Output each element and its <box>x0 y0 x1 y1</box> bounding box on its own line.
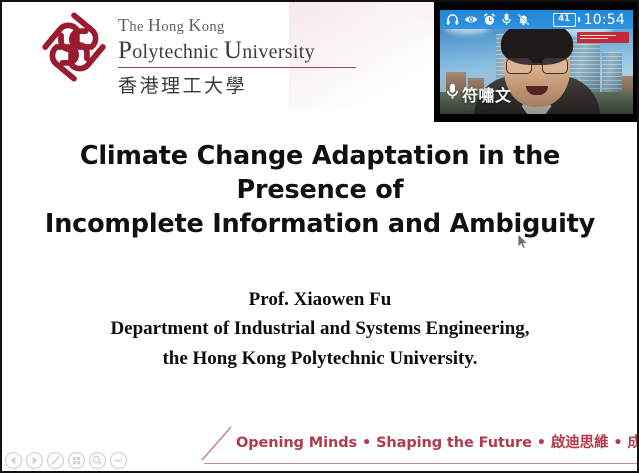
presentation-control-bar[interactable] <box>4 451 128 470</box>
previous-slide-button[interactable] <box>4 451 23 470</box>
alarm-clock-icon <box>483 13 496 26</box>
microphone-icon <box>501 13 512 26</box>
all-slides-button[interactable] <box>67 451 86 470</box>
participant-video-overlay[interactable]: 41 10:54 符嘯文 <box>434 0 639 122</box>
presenter-department: Department of Industrial and Systems Eng… <box>40 314 600 343</box>
footer-rule <box>204 463 639 465</box>
battery-percent: 41 <box>558 15 570 24</box>
slide-footer: Opening Minds • Shaping the Future • 啟迪思… <box>196 421 639 467</box>
headphones-icon <box>446 13 459 26</box>
brand-line-1: The Hong Kong <box>118 16 356 35</box>
footer-slash-icon <box>200 425 234 463</box>
brand-line-2: Polytechnic University <box>118 36 356 65</box>
next-slide-button[interactable] <box>25 451 44 470</box>
slide-title: Climate Change Adaptation in the Presenc… <box>26 140 614 242</box>
presenter-name: Prof. Xiaowen Fu <box>40 285 600 314</box>
more-options-button[interactable] <box>109 451 128 470</box>
microphone-icon <box>446 83 459 105</box>
brand-chinese: 香港理工大學 <box>118 71 356 98</box>
capture-frame-left <box>0 0 2 473</box>
eye-icon <box>464 13 478 26</box>
presenter-university: the Hong Kong Polytechnic University. <box>40 344 600 373</box>
screen-capture: The Hong Kong Polytechnic University 香港理… <box>0 0 639 473</box>
mouse-pointer-icon <box>517 234 529 250</box>
device-status-bar: 41 10:54 <box>440 10 633 29</box>
bell-muted-icon <box>517 13 530 26</box>
brand-rule <box>118 67 356 69</box>
clock-time: 10:54 <box>584 12 629 28</box>
notification-chip <box>577 32 629 43</box>
video-feed[interactable]: 41 10:54 符嘯文 <box>440 10 633 114</box>
participant-name: 符嘯文 <box>462 82 512 106</box>
zoom-slide-button[interactable] <box>88 451 107 470</box>
polyu-knot-logo-icon <box>38 8 110 86</box>
polyu-branding: The Hong Kong Polytechnic University 香港理… <box>38 8 356 98</box>
polyu-wordmark: The Hong Kong Polytechnic University 香港理… <box>118 8 356 98</box>
slide-title-line-1: Climate Change Adaptation in the Presenc… <box>26 140 614 208</box>
participant-nameplate: 符嘯文 <box>446 82 512 106</box>
capture-frame-top <box>0 0 639 2</box>
pen-tools-button[interactable] <box>46 451 65 470</box>
battery-indicator: 41 <box>553 13 580 27</box>
presenter-info: Prof. Xiaowen Fu Department of Industria… <box>40 285 600 373</box>
footer-tagline: Opening Minds • Shaping the Future • 啟迪思… <box>236 431 639 452</box>
